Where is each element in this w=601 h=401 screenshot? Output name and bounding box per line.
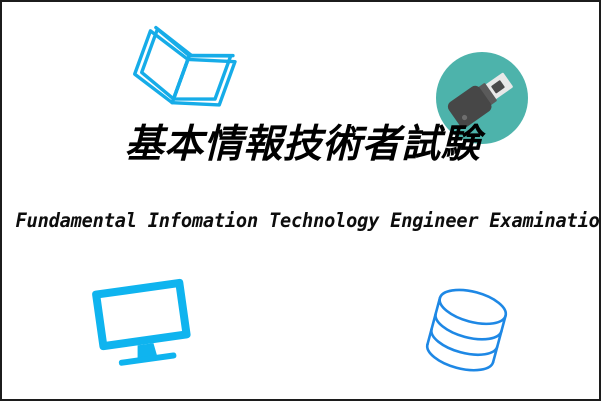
computer-monitor-icon	[92, 278, 200, 374]
open-book-icon	[130, 20, 246, 116]
poster-canvas: 基本情報技術者試験 Fundamental Infomation Technol…	[0, 0, 601, 401]
page-title-japanese: 基本情報技術者試験	[2, 120, 601, 168]
page-subtitle-english: Fundamental Infomation Technology Engine…	[16, 207, 590, 235]
database-cylinder-icon	[416, 282, 516, 382]
